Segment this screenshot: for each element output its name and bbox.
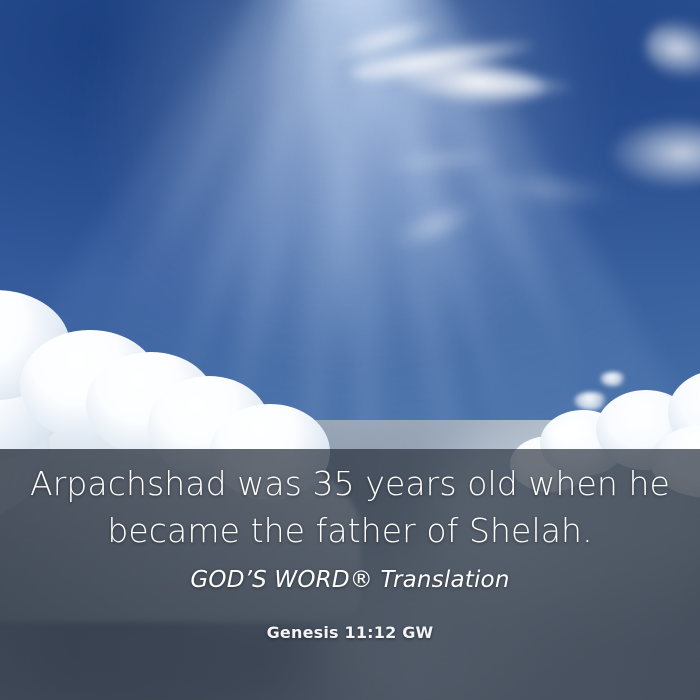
- verse-citation: Genesis 11:12 GW: [267, 623, 434, 642]
- text-block: Arpachshad was 35 years old when he beca…: [0, 449, 700, 700]
- verse-text: Arpachshad was 35 years old when he beca…: [30, 460, 670, 554]
- verse-image-card: Arpachshad was 35 years old when he beca…: [0, 0, 700, 700]
- cloud-puff-small: [574, 392, 608, 410]
- cloud-puff-small: [600, 372, 626, 386]
- translation-attribution: GOD’S WORD® Translation: [190, 567, 509, 593]
- cloud-puff-small: [548, 424, 588, 444]
